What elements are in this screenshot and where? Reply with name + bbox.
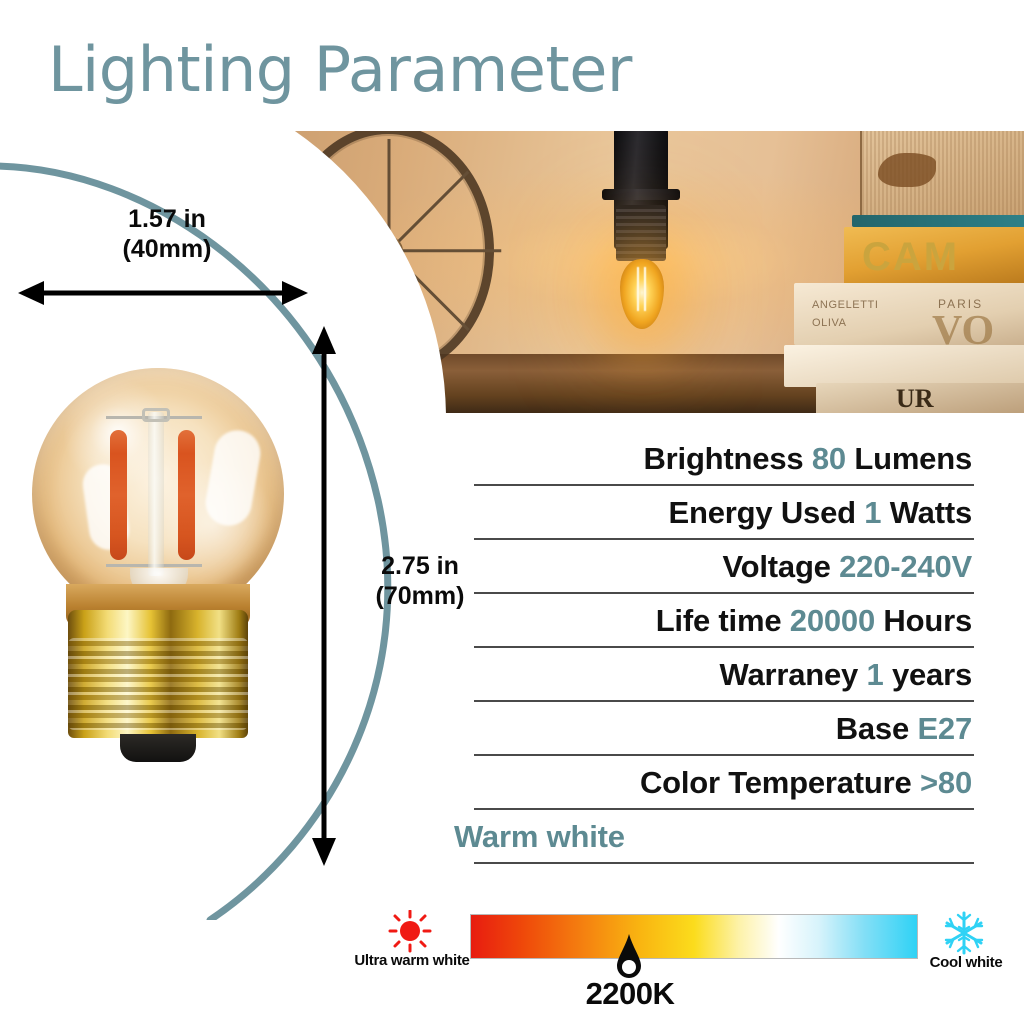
spec-text-energy-used: Energy Used 1 Watts bbox=[452, 486, 976, 540]
cct-marker-pin bbox=[616, 934, 642, 980]
spec-separator bbox=[474, 862, 974, 864]
led-filament-left bbox=[110, 430, 127, 560]
height-dimension-arrow bbox=[306, 326, 342, 866]
width-dimension-label: 1.57 in (40mm) bbox=[42, 205, 292, 264]
width-mm: (40mm) bbox=[42, 235, 292, 265]
spec-text-life-time: Life time 20000 Hours bbox=[452, 594, 976, 648]
width-inches: 1.57 in bbox=[42, 205, 292, 235]
book-cam: CAM bbox=[844, 227, 1024, 287]
bulb-stem bbox=[148, 412, 164, 576]
product-bulb-image bbox=[18, 362, 298, 794]
glass-highlight-right bbox=[202, 427, 264, 530]
glowing-bulb-filament bbox=[635, 267, 649, 311]
book-teal-spine bbox=[852, 215, 1024, 227]
spec-row-color-temperature: Color Temperature >80 bbox=[452, 756, 976, 810]
bulb-stem-cap bbox=[142, 408, 170, 422]
spec-row-energy-used: Energy Used 1 Watts bbox=[452, 486, 976, 540]
spec-row-brightness: Brightness 80 Lumens bbox=[452, 432, 976, 486]
bulb-glass-globe bbox=[32, 368, 284, 620]
spec-text-base: Base E27 bbox=[452, 702, 976, 756]
spec-text-voltage: Voltage 220-240V bbox=[452, 540, 976, 594]
cct-gradient-bar bbox=[470, 914, 918, 959]
spec-text-color-temperature: Color Temperature >80 bbox=[452, 756, 976, 810]
snowflake-icon bbox=[940, 910, 988, 956]
cct-marker-value: 2200K bbox=[564, 976, 696, 1012]
bulb-base-threads bbox=[68, 638, 248, 730]
spec-row-voltage: Voltage 220-240V bbox=[452, 540, 976, 594]
spec-text-brightness: Brightness 80 Lumens bbox=[452, 432, 976, 486]
book-text-oliva: OLIVA bbox=[812, 317, 847, 329]
cct-cool-label: Cool white bbox=[918, 954, 1014, 971]
led-filament-right bbox=[178, 430, 195, 560]
sun-icon bbox=[384, 910, 436, 956]
page-title: Lighting Parameter bbox=[48, 33, 632, 106]
spec-row-warm-white: Warm white bbox=[452, 810, 976, 864]
spec-text-warm-white: Warm white bbox=[452, 810, 976, 864]
cct-warm-label: Ultra warm white bbox=[348, 952, 476, 969]
book-text-vo: VO bbox=[932, 307, 994, 355]
book-bottom: UR bbox=[816, 383, 1024, 413]
socket-thread bbox=[616, 205, 666, 261]
specification-list: Brightness 80 Lumens Energy Used 1 Watts… bbox=[452, 432, 976, 864]
spec-row-base: Base E27 bbox=[452, 702, 976, 756]
color-temperature-scale: Ultra warm white 2200K bbox=[352, 908, 1016, 1018]
socket-collar bbox=[602, 189, 680, 200]
spec-row-warranty: Warraney 1 years bbox=[452, 648, 976, 702]
bulb-base-tip bbox=[120, 734, 196, 762]
spec-row-life-time: Life time 20000 Hours bbox=[452, 594, 976, 648]
book-burlap bbox=[860, 131, 1024, 217]
book-text-angeletti: ANGELETTI bbox=[812, 299, 879, 311]
width-dimension-arrow bbox=[18, 276, 308, 310]
spec-text-warranty: Warraney 1 years bbox=[452, 648, 976, 702]
infographic-canvas: CAM UR ANGELETTI OLIVA PARIS VO Lighting… bbox=[0, 0, 1024, 1024]
